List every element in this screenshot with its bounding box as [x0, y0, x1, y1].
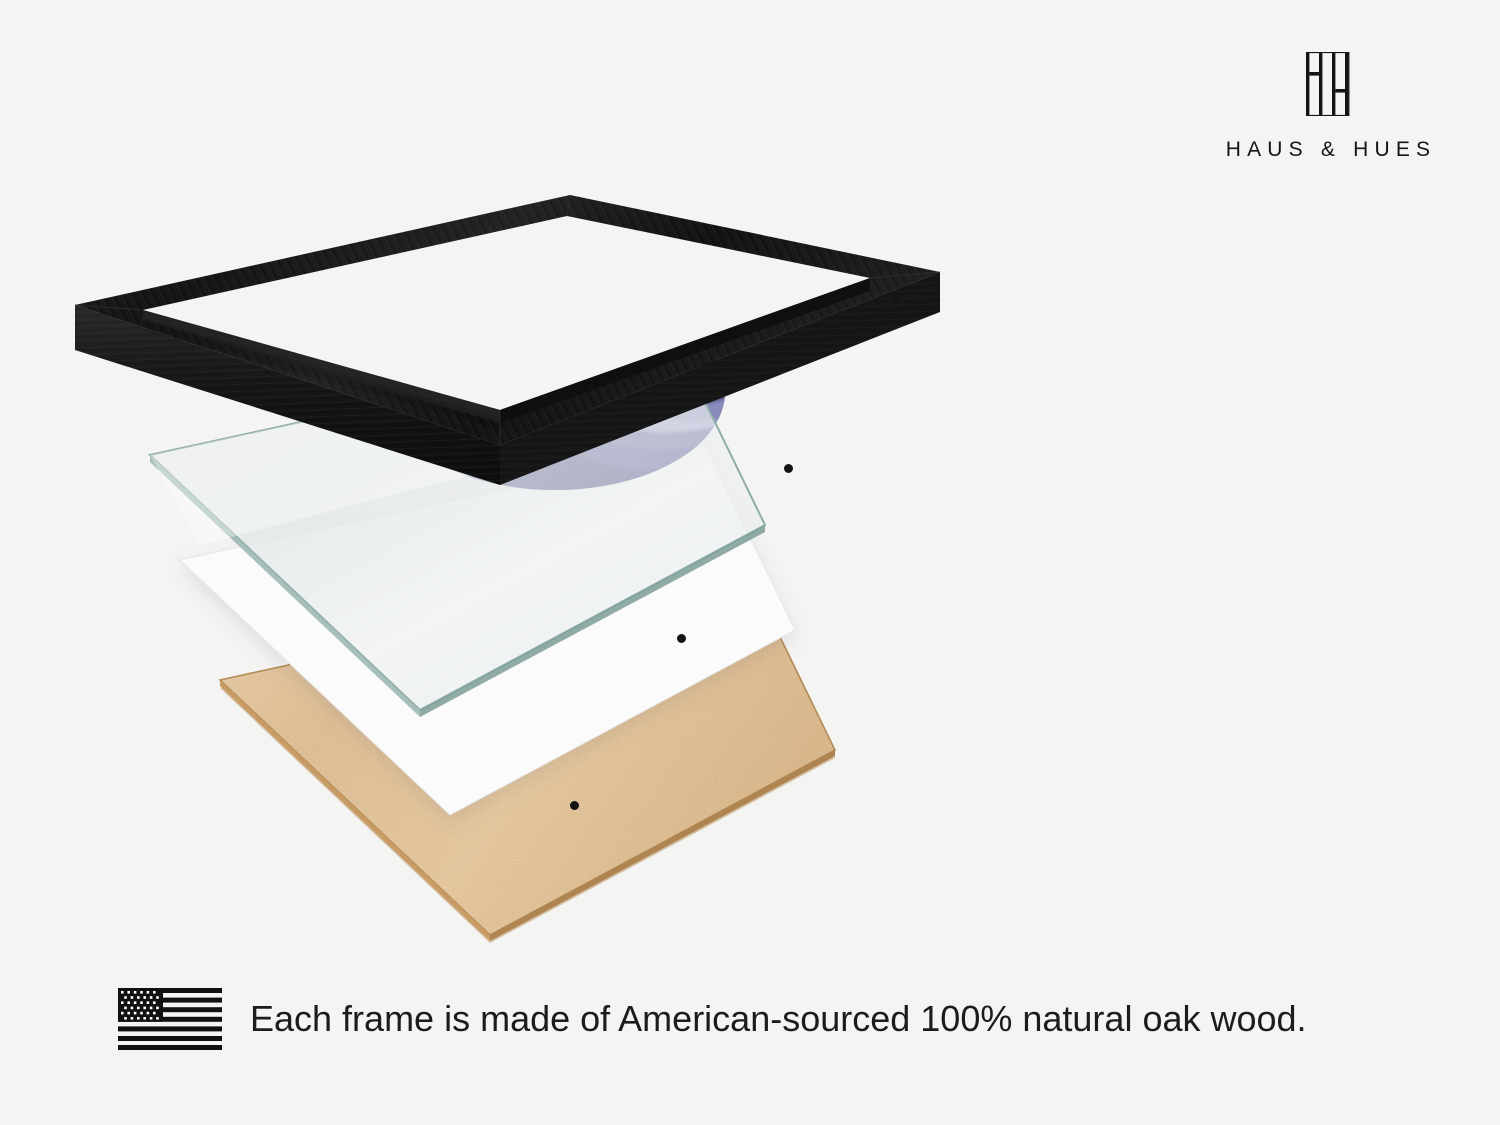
callout-dot-mdf [570, 801, 579, 810]
brand-name: HAUS & HUES [1196, 138, 1466, 162]
layer-oak-frame [75, 195, 940, 485]
exploded-frame-diagram [0, 0, 980, 980]
footer-guarantee: Each frame is made of American-sourced 1… [118, 988, 1307, 1050]
usa-flag-icon [118, 988, 222, 1050]
screenshot-root: HAUS & HUES [0, 0, 1500, 1125]
footer-text: Each frame is made of American-sourced 1… [250, 998, 1307, 1040]
brand-lockup: HAUS & HUES [1196, 52, 1466, 162]
callout-dot-frame [891, 292, 900, 301]
diagram-svg [0, 0, 980, 980]
callout-dot-art-print [677, 634, 686, 643]
hh-monogram-logo-icon [1300, 52, 1362, 116]
callout-dot-plexiglass [784, 464, 793, 473]
